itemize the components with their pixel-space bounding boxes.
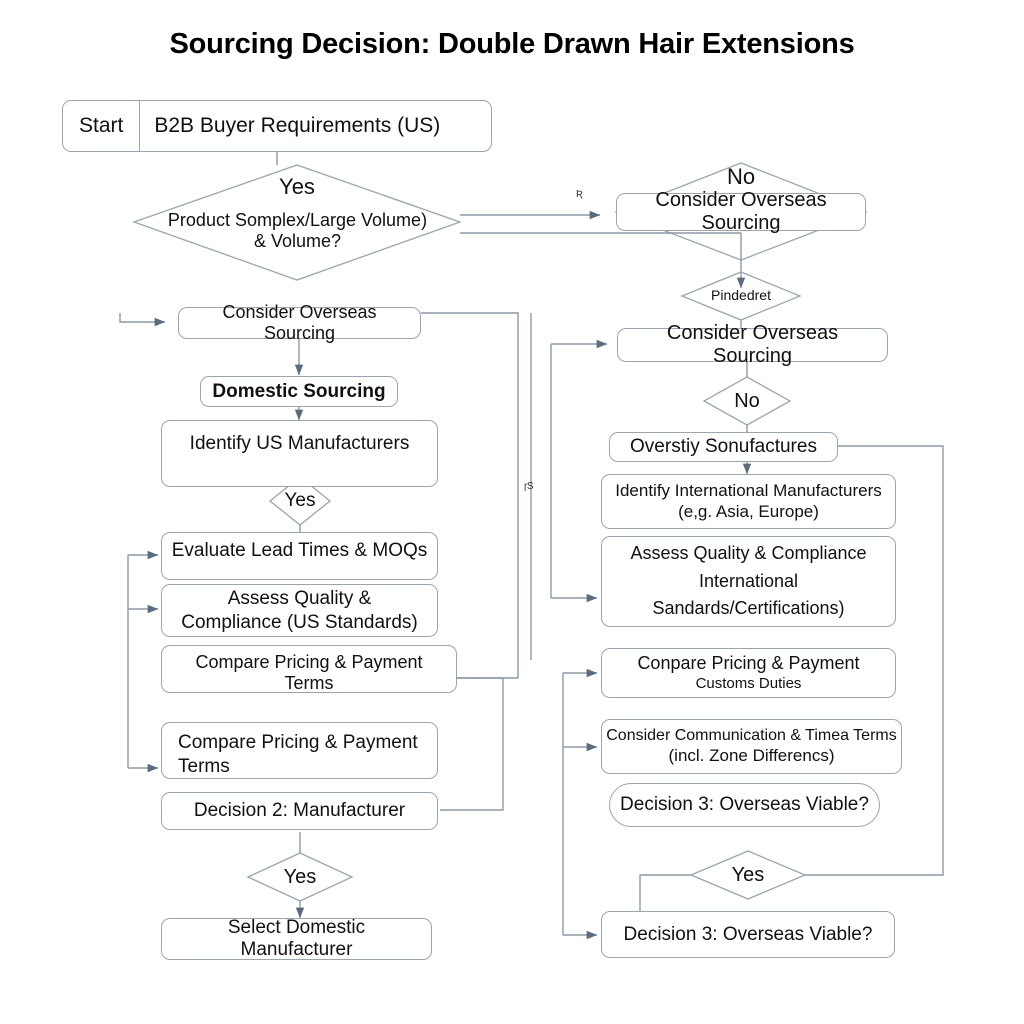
start-tag: Start	[63, 101, 140, 151]
node-compare-pricing-us[interactable]: Compare Pricing & Payment Terms	[161, 645, 457, 693]
node-assess-intl-line3: Sandards/Certifications)	[594, 598, 903, 620]
node-product-complex: Product Somplex/Large Volume) & Volume?	[140, 205, 455, 257]
node-decision-3-upper[interactable]: Decision 3: Overseas Viable?	[609, 783, 880, 827]
product-complex-line1: Product Somplex/Large Volume)	[168, 210, 427, 231]
node-compare-pricing-terms-line2: Terms	[178, 755, 230, 778]
node-evaluate-lead-times-label: Evaluate Lead Times & MOQs	[162, 540, 437, 562]
node-consider-comm-line2: (incl. Zone Differencs)	[594, 746, 909, 767]
node-domestic-sourcing[interactable]: Domestic Sourcing	[200, 376, 398, 407]
page-title: Sourcing Decision: Double Drawn Hair Ext…	[0, 28, 1024, 61]
node-assess-quality-us-line1: Assess Quality &	[154, 587, 445, 610]
node-overstiy-sonufactures[interactable]: Overstiy Sonufactures	[609, 432, 838, 462]
node-overstiy-label: Overstiy Sonufactures	[610, 436, 837, 458]
diamond-label-product-yes: Yes	[247, 172, 347, 202]
node-consider-overseas-left[interactable]: Consider Overseas Sourcing	[178, 307, 421, 339]
node-assess-quality-us-line2: Compliance (US Standards)	[154, 611, 445, 634]
node-assess-quality-us[interactable]: Assess Quality & Compliance (US Standard…	[161, 584, 438, 637]
node-consider-comm-line1: Consider Communication & Timea Terms	[594, 726, 909, 746]
node-decision-2-label: Decision 2: Manufacturer	[162, 800, 437, 822]
flowchart-canvas: Sourcing Decision: Double Drawn Hair Ext…	[0, 0, 1024, 1024]
diamond-product-complex	[134, 165, 460, 280]
diamond-label-domestic-yes: Yes	[255, 863, 345, 891]
node-domestic-sourcing-label: Domestic Sourcing	[201, 381, 397, 403]
node-compare-pricing-intl-line1: Conpare Pricing & Payment	[594, 653, 903, 675]
node-decision-3-lower[interactable]: Decision 3: Overseas Viable?	[601, 911, 895, 958]
diamond-overseas-no	[704, 377, 790, 425]
node-identify-us-label: Identify US Manufacturers	[162, 433, 437, 455]
product-complex-line2: & Volume?	[254, 231, 341, 252]
node-consider-communication[interactable]: Consider Communication & Timea Terms (in…	[601, 719, 902, 774]
node-compare-pricing-terms[interactable]: Compare Pricing & Payment Terms	[161, 722, 438, 779]
node-evaluate-lead-times[interactable]: Evaluate Lead Times & MOQs	[161, 532, 438, 580]
node-compare-pricing-us-label: Compare Pricing & Payment Terms	[162, 652, 456, 693]
node-consider-overseas-right-label: Consider Overseas Sourcing	[618, 322, 887, 368]
diamond-label-overseas-yes: Yes	[703, 861, 793, 889]
node-identify-us-manufacturers[interactable]: Identify US Manufacturers	[161, 420, 438, 487]
diamond-label-identify-yes: Yes	[255, 488, 345, 514]
node-select-domestic-label: Select Domestic Manufacturer	[162, 917, 431, 961]
node-compare-pricing-intl-line2: Customs Duties	[594, 675, 903, 693]
node-identify-intl-line2: (e,g. Asia, Europe)	[594, 502, 903, 523]
diamond-label-overseas-no: No	[697, 388, 797, 414]
node-decision-2[interactable]: Decision 2: Manufacturer	[161, 792, 438, 830]
node-select-domestic-manufacturer[interactable]: Select Domestic Manufacturer	[161, 918, 432, 960]
edge-label-mid-left: ɼS	[524, 481, 533, 492]
node-assess-quality-international[interactable]: Assess Quality & Compliance Internationa…	[601, 536, 896, 627]
start-label: B2B Buyer Requirements (US)	[140, 101, 454, 151]
node-compare-pricing-international[interactable]: Conpare Pricing & Payment Customs Duties	[601, 648, 896, 698]
node-consider-overseas-top[interactable]: Consider Overseas Sourcing	[616, 193, 866, 231]
edge-label-top-right: Ʀ	[576, 189, 582, 200]
node-assess-intl-line2: International	[594, 571, 903, 593]
diamond-overseas-yes	[691, 851, 805, 899]
node-consider-overseas-top-label: Consider Overseas Sourcing	[617, 189, 865, 235]
diamond-label-pindedret: Pindedret	[686, 283, 796, 307]
start-node[interactable]: Start B2B Buyer Requirements (US)	[62, 100, 492, 152]
node-identify-intl-line1: Identify International Manufacturers	[594, 481, 903, 502]
diamond-label-overseas-top-no: No	[691, 163, 791, 191]
node-decision-3-lower-label: Decision 3: Overseas Viable?	[602, 924, 894, 946]
node-consider-overseas-right[interactable]: Consider Overseas Sourcing	[617, 328, 888, 362]
node-decision-3-upper-label: Decision 3: Overseas Viable?	[610, 794, 879, 816]
diamond-pindedret	[682, 272, 800, 320]
diamond-domestic-yes	[248, 853, 352, 901]
node-identify-international[interactable]: Identify International Manufacturers (e,…	[601, 474, 896, 529]
node-assess-intl-line1: Assess Quality & Compliance	[594, 543, 903, 565]
node-compare-pricing-terms-line1: Compare Pricing & Payment	[178, 731, 418, 754]
node-consider-overseas-left-label: Consider Overseas Sourcing	[179, 302, 420, 343]
